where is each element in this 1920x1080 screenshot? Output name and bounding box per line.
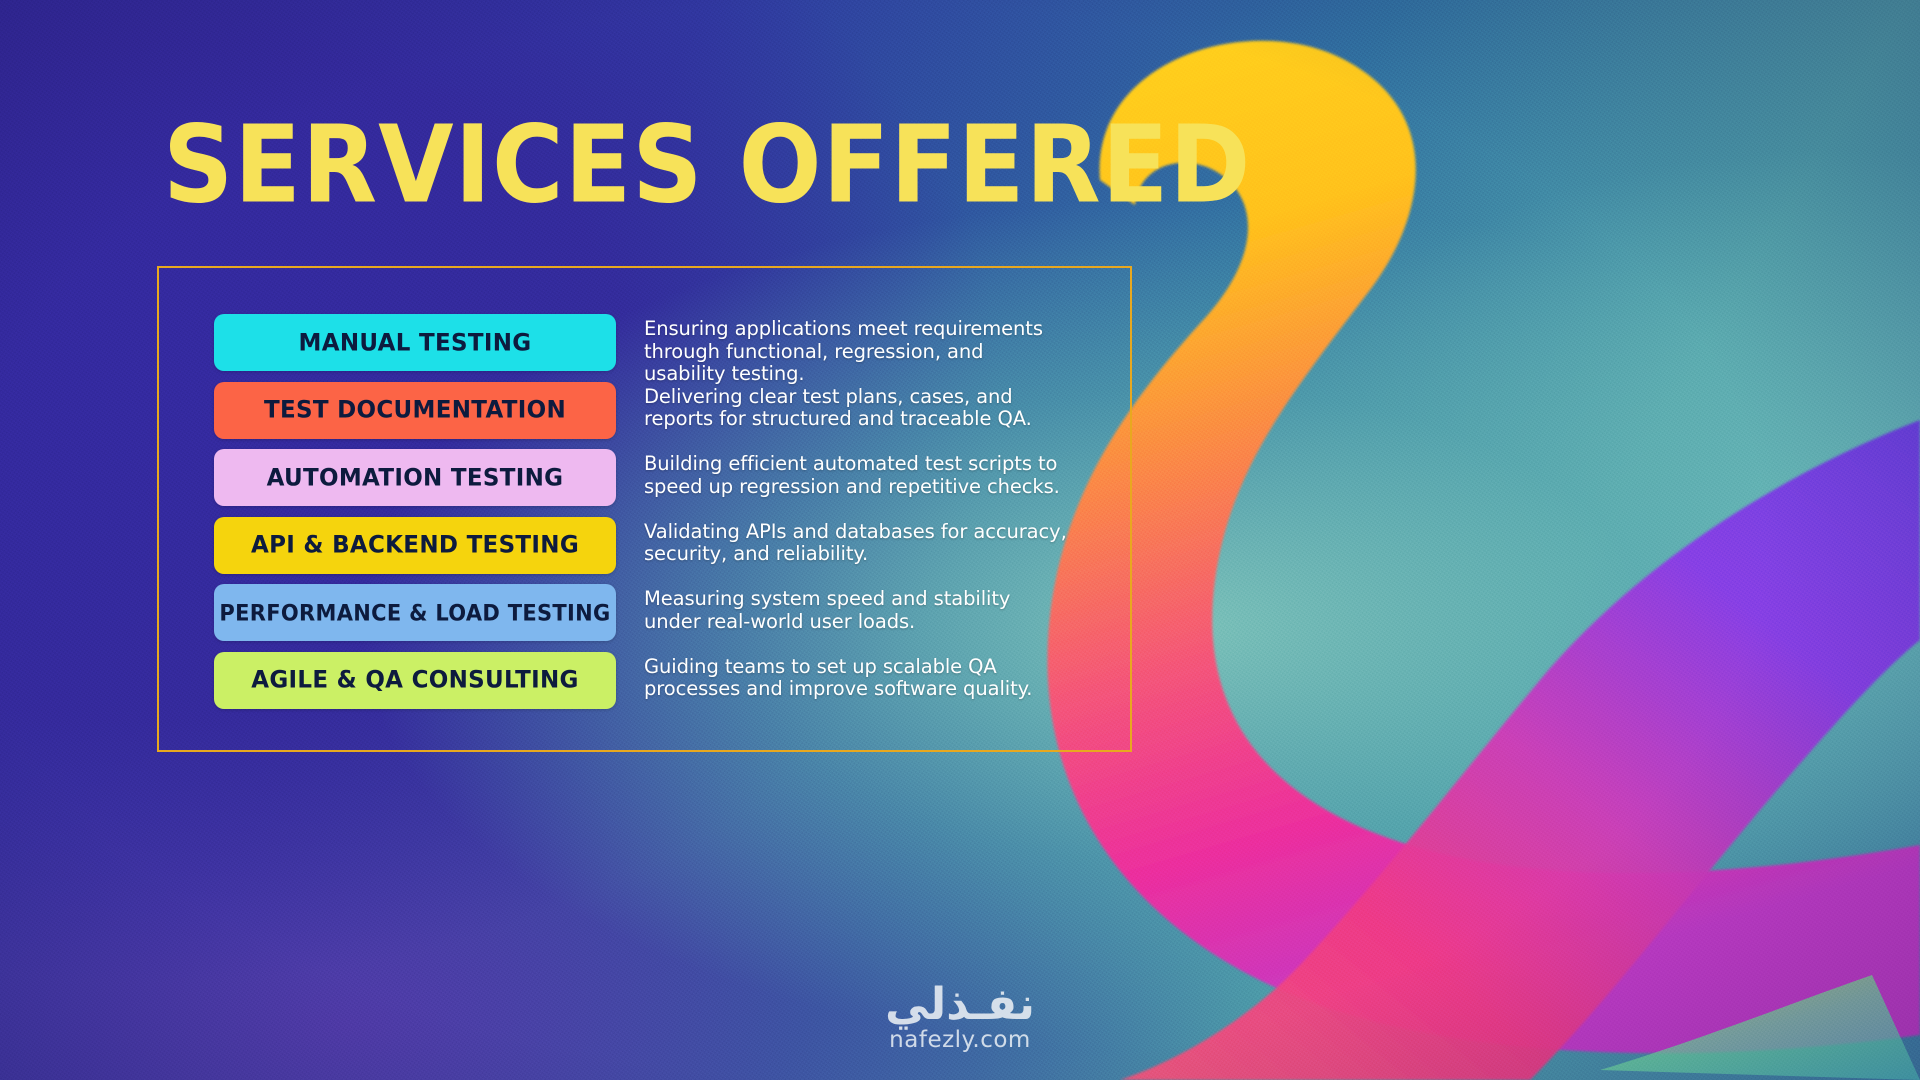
service-title: PERFORMANCE & LOAD TESTING	[219, 600, 610, 625]
service-description: Guiding teams to set up scalable QA proc…	[644, 652, 1068, 701]
brand-domain: nafezly.com	[889, 1029, 1031, 1052]
service-pill-manual-testing[interactable]: MANUAL TESTING	[214, 314, 616, 371]
list-item: MANUAL TESTING Ensuring applications mee…	[214, 314, 1074, 382]
service-description: Ensuring applications meet requirements …	[644, 314, 1068, 386]
service-pill-test-documentation[interactable]: TEST DOCUMENTATION	[214, 382, 616, 439]
service-description: Building efficient automated test script…	[644, 449, 1068, 498]
service-pill-performance-load-testing[interactable]: PERFORMANCE & LOAD TESTING	[214, 584, 616, 641]
list-item: PERFORMANCE & LOAD TESTING Measuring sys…	[214, 584, 1074, 652]
service-description: Delivering clear test plans, cases, and …	[644, 382, 1068, 431]
service-pill-api-backend-testing[interactable]: API & BACKEND TESTING	[214, 517, 616, 574]
service-title: TEST DOCUMENTATION	[264, 396, 566, 423]
service-title: API & BACKEND TESTING	[251, 531, 579, 558]
service-title: AGILE & QA CONSULTING	[251, 666, 578, 693]
service-pill-automation-testing[interactable]: AUTOMATION TESTING	[214, 449, 616, 506]
services-list: MANUAL TESTING Ensuring applications mee…	[214, 314, 1074, 719]
service-pill-agile-qa-consulting[interactable]: AGILE & QA CONSULTING	[214, 652, 616, 709]
brand-logo-arabic: نفـذلي	[885, 983, 1035, 1027]
list-item: API & BACKEND TESTING Validating APIs an…	[214, 517, 1074, 585]
list-item: AGILE & QA CONSULTING Guiding teams to s…	[214, 652, 1074, 720]
service-title: AUTOMATION TESTING	[267, 464, 564, 491]
footer-watermark: نفـذلي nafezly.com	[0, 983, 1920, 1052]
service-description: Validating APIs and databases for accura…	[644, 517, 1068, 566]
list-item: AUTOMATION TESTING Building efficient au…	[214, 449, 1074, 517]
service-title: MANUAL TESTING	[299, 329, 532, 356]
page-title: SERVICES OFFERED	[163, 112, 1251, 219]
service-description: Measuring system speed and stability und…	[644, 584, 1068, 633]
list-item: TEST DOCUMENTATION Delivering clear test…	[214, 382, 1074, 450]
